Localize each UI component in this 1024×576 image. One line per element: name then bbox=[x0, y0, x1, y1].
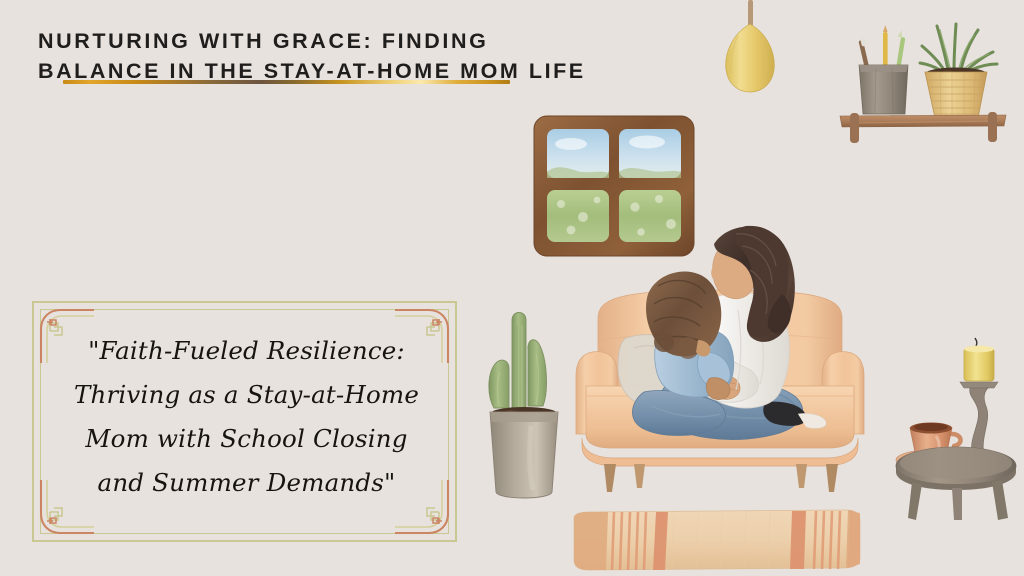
pencil-cup-icon bbox=[858, 25, 908, 114]
quote-line-3: Mom with School Closing bbox=[58, 417, 435, 461]
quote-card: "Faith-Fueled Resilience: Thriving as a … bbox=[32, 301, 457, 542]
quote-text: "Faith-Fueled Resilience: Thriving as a … bbox=[58, 329, 435, 505]
quote-line-1: "Faith-Fueled Resilience: bbox=[58, 329, 435, 373]
page-title: NURTURING WITH GRACE: FINDING BALANCE IN… bbox=[38, 26, 648, 86]
wall-shelf bbox=[828, 18, 1018, 146]
shelf-board-icon bbox=[840, 112, 1006, 143]
basket-planter-icon bbox=[920, 24, 997, 123]
sofa-legs bbox=[604, 464, 838, 492]
pendant-lamp-icon bbox=[712, 0, 808, 96]
poster-canvas: NURTURING WITH GRACE: FINDING BALANCE IN… bbox=[0, 0, 1024, 576]
quote-line-4: and Summer Demands" bbox=[58, 461, 435, 505]
striped-rug-icon bbox=[568, 508, 864, 576]
title-line-1: NURTURING WITH GRACE: FINDING bbox=[38, 26, 648, 56]
quote-line-2: Thriving as a Stay-at-Home bbox=[58, 373, 435, 417]
side-table-icon bbox=[892, 338, 1020, 520]
mother-and-child-on-sofa bbox=[560, 190, 880, 500]
title-underline-bar bbox=[63, 80, 510, 84]
